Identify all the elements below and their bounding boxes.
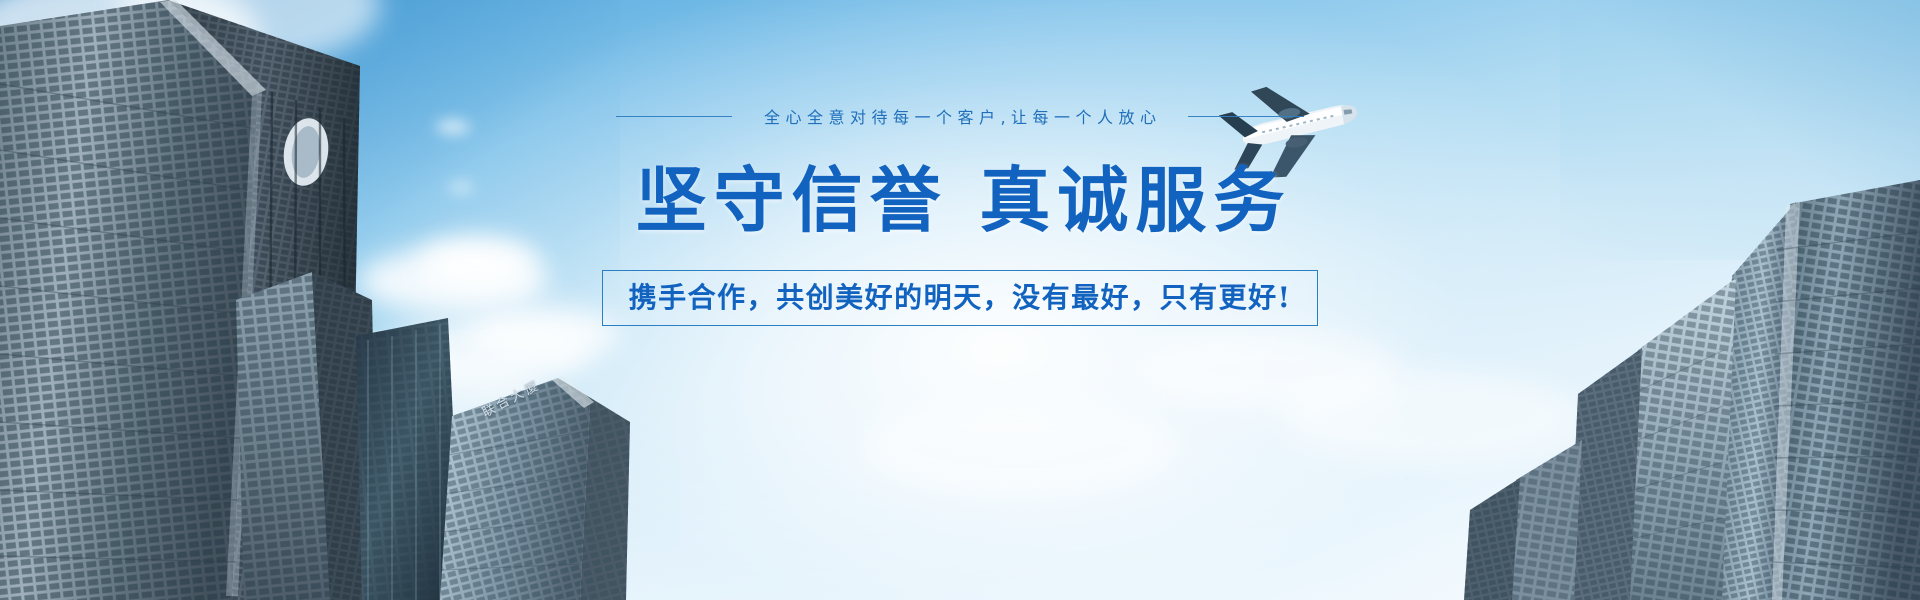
cloud-icon	[470, 306, 620, 362]
skyscraper-icon	[1320, 180, 1920, 600]
cloud-icon	[860, 400, 1180, 500]
tagline-rule-right	[1188, 116, 1304, 117]
tagline-text: 全心全意对待每一个客户,让每一个人放心	[758, 104, 1161, 128]
hero-banner: 联合大厦	[0, 0, 1920, 600]
tagline-row: 全心全意对待每一个客户,让每一个人放心	[616, 104, 1303, 128]
subtitle-box: 携手合作，共创美好的明天，没有最好，只有更好!	[602, 270, 1319, 326]
skyscraper-icon	[0, 0, 480, 600]
tagline-rule-left	[616, 116, 732, 117]
skyscraper-icon	[430, 370, 660, 600]
subtitle-text: 携手合作，共创美好的明天，没有最好，只有更好!	[629, 283, 1292, 312]
headline-text: 坚守信誉 真诚服务	[629, 165, 1292, 236]
